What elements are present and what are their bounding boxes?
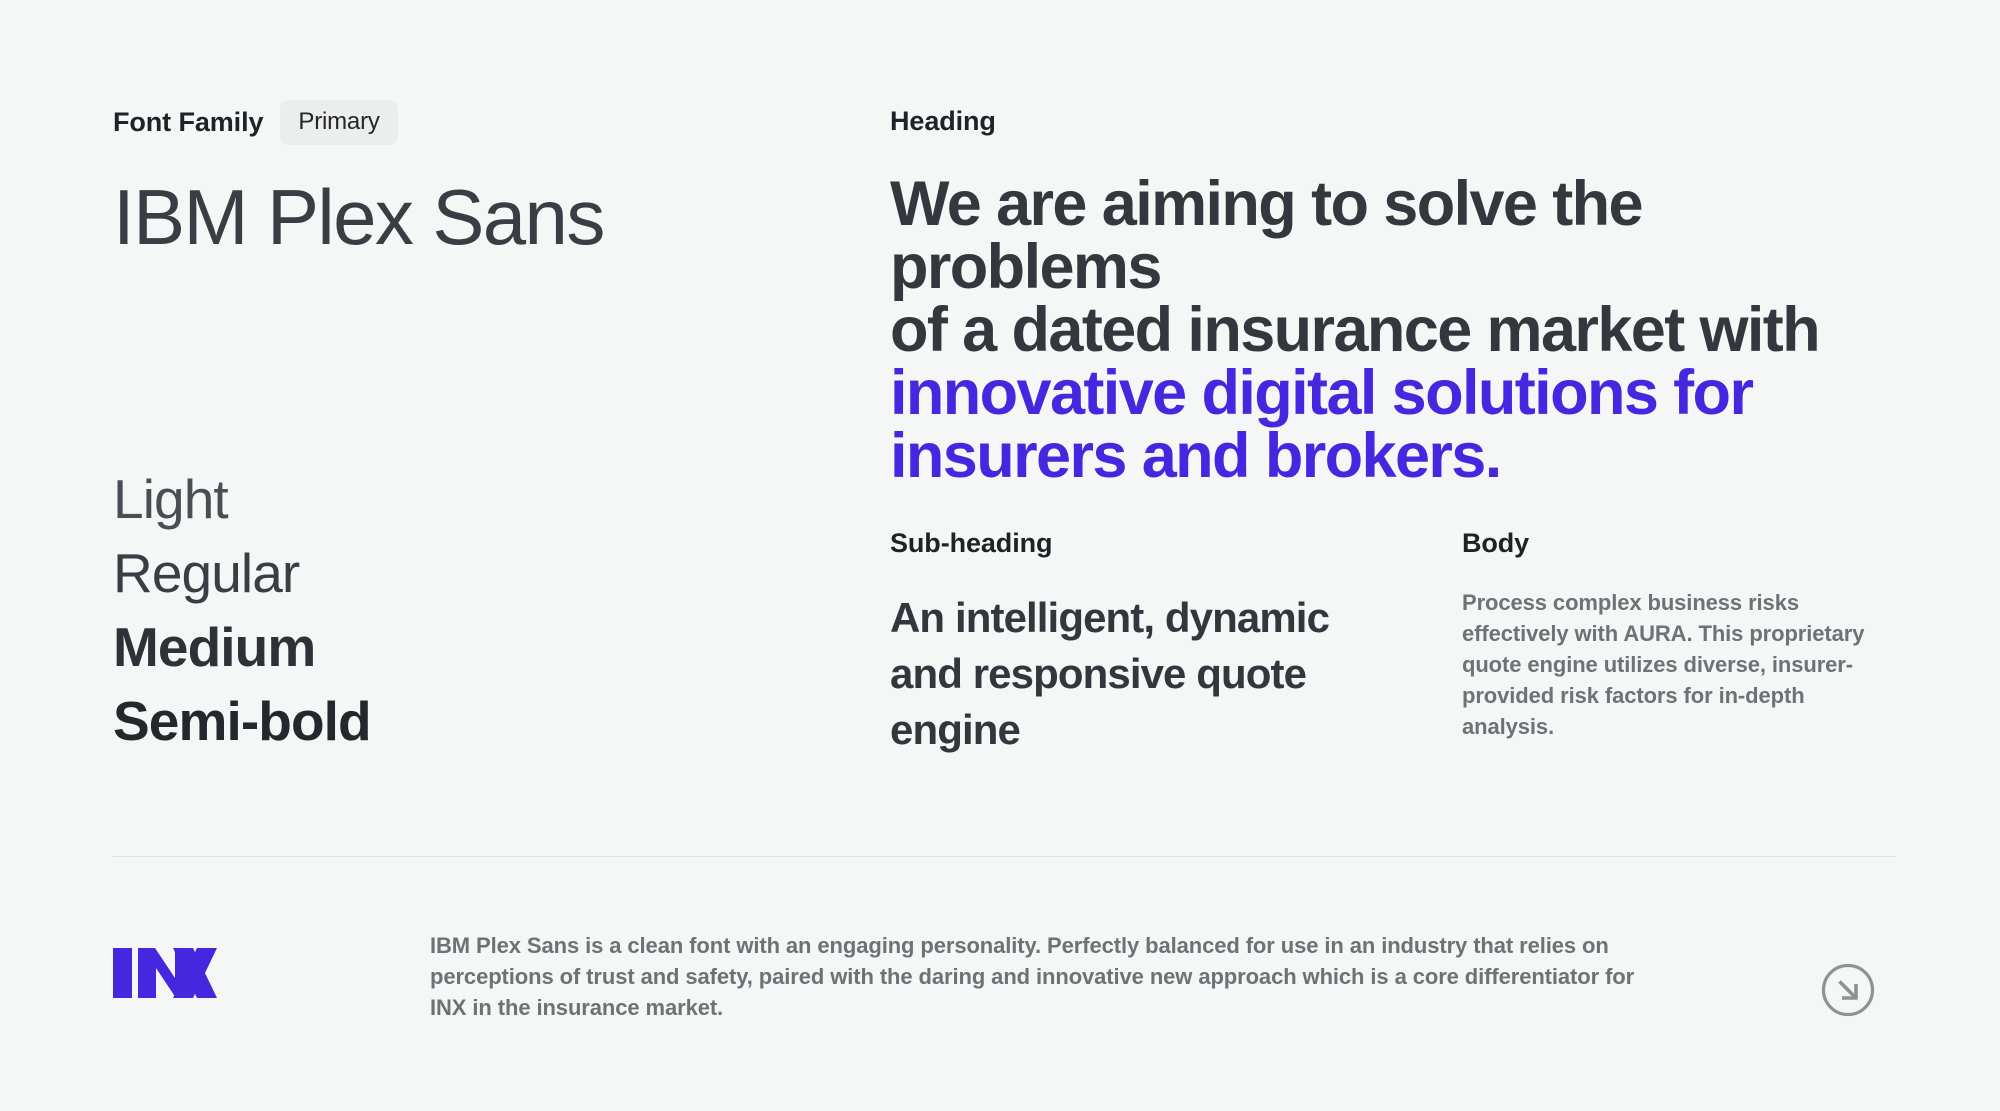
subheading-sample-text: An intelligent, dynamic and responsive q… [890,590,1390,758]
heading-label: Heading [890,108,1900,135]
footer-divider [113,856,1895,857]
weight-item-regular: Regular [113,536,713,610]
weight-item-medium: Medium [113,610,713,684]
weight-item-semibold: Semi-bold [113,684,713,758]
weight-item-light: Light [113,462,713,536]
heading-line-2: of a dated insurance market with [890,299,1900,362]
typography-style-guide-page: Font Family Primary IBM Plex Sans Light … [0,0,2000,1111]
footer: INX IBM Plex Sans is a clean font with a… [113,930,1895,1023]
heading-line-1: We are aiming to solve the problems [890,173,1900,299]
heading-accent-line-2: insurers and brokers. [890,425,1900,488]
body-section: Body Process complex business risks effe… [1462,530,1882,742]
font-family-section: Font Family Primary IBM Plex Sans [113,100,753,259]
font-family-header-row: Font Family Primary [113,100,753,144]
body-sample-text: Process complex business risks effective… [1462,587,1882,742]
heading-accent-line-1: innovative digital solutions for [890,362,1900,425]
font-family-label: Font Family [113,109,263,136]
font-weights-list: Light Regular Medium Semi-bold [113,462,713,758]
arrow-down-right-circle-icon[interactable] [1820,962,1876,1018]
primary-badge: Primary [280,100,397,145]
subheading-section: Sub-heading An intelligent, dynamic and … [890,530,1390,758]
font-family-name: IBM Plex Sans [113,176,753,259]
body-label: Body [1462,530,1882,557]
inx-logo: INX [113,948,217,998]
heading-sample-text: We are aiming to solve the problems of a… [890,173,1900,488]
heading-section: Heading We are aiming to solve the probl… [890,108,1900,488]
subheading-label: Sub-heading [890,530,1390,557]
footer-description: IBM Plex Sans is a clean font with an en… [430,930,1670,1023]
